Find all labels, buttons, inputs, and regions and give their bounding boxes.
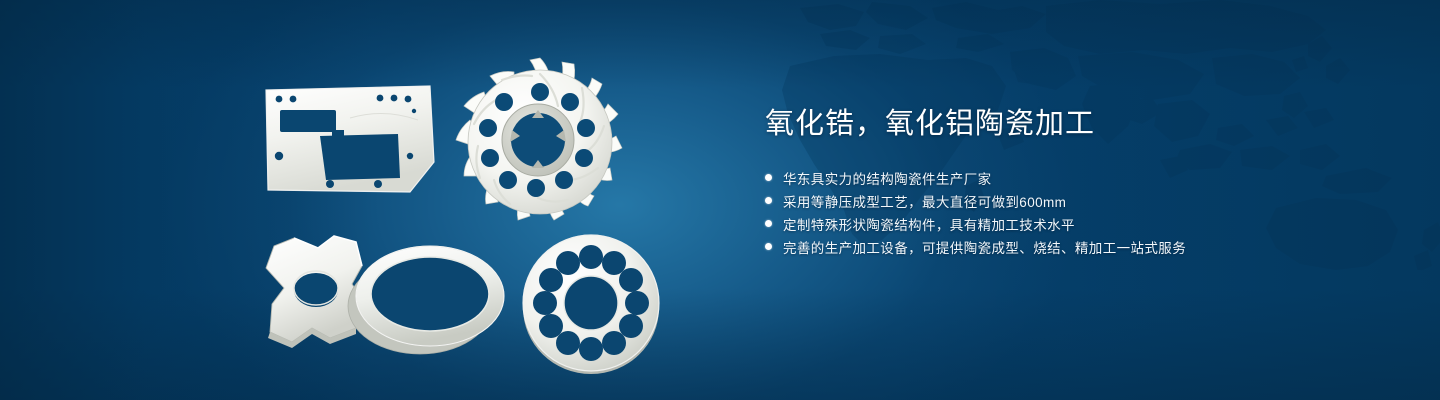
feature-item: 采用等静压成型工艺，最大直径可做到600mm [765,189,1385,212]
banner-text-block: 氧化锆，氧化铝陶瓷加工 华东具实力的结构陶瓷件生产厂家 采用等静压成型工艺，最大… [765,104,1385,274]
bullet-dot-icon [765,197,772,204]
bullet-dot-icon [765,220,772,227]
feature-item: 华东具实力的结构陶瓷件生产厂家 [765,166,1385,189]
banner-feature-list: 华东具实力的结构陶瓷件生产厂家 采用等静压成型工艺，最大直径可做到600mm 定… [765,166,1385,258]
banner-headline: 氧化锆，氧化铝陶瓷加工 [765,104,1385,144]
bullet-dot-icon [765,174,772,181]
ceramic-impeller-part [452,52,628,230]
feature-label: 完善的生产加工设备，可提供陶瓷成型、烧结、精加工一站式服务 [783,237,1186,257]
feature-label: 采用等静压成型工艺，最大直径可做到600mm [783,191,1066,211]
hero-banner: 氧化锆，氧化铝陶瓷加工 华东具实力的结构陶瓷件生产厂家 采用等静压成型工艺，最大… [0,0,1440,400]
feature-item: 定制特殊形状陶瓷结构件，具有精加工技术水平 [765,212,1385,235]
ceramic-plate-part [258,84,438,196]
feature-label: 华东具实力的结构陶瓷件生产厂家 [783,168,992,188]
feature-item: 完善的生产加工设备，可提供陶瓷成型、烧结、精加工一站式服务 [765,235,1385,258]
bullet-dot-icon [765,243,772,250]
ceramic-ring-part [340,236,512,362]
ceramic-holed-disc-part [516,228,666,378]
feature-label: 定制特殊形状陶瓷结构件，具有精加工技术水平 [783,214,1075,234]
